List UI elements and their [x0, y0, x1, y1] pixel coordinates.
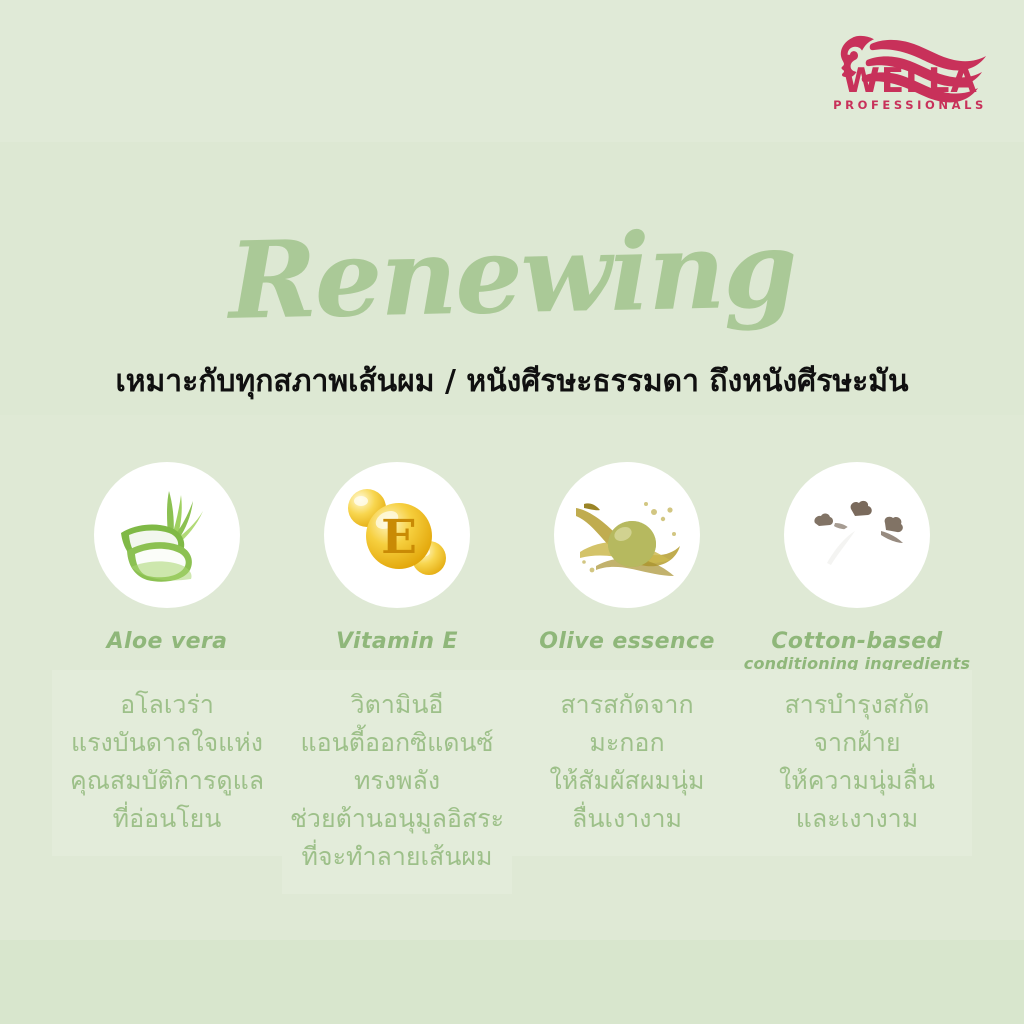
aloe-vera-icon: [107, 475, 227, 595]
svg-text:E: E: [381, 510, 417, 565]
wella-logo: WELLA PROFESSIONALS: [822, 16, 998, 116]
description-line: ให้ความนุ่มลื่น: [746, 762, 968, 800]
description-line: ทรงพลัง: [286, 762, 508, 800]
ingredient-name-line1: Vitamin E: [336, 629, 458, 654]
vitamin-e-capsule-icon: E: [337, 475, 457, 595]
ingredient-icon-circle: E: [324, 462, 470, 608]
description-line: ที่อ่อนโยน: [56, 800, 278, 838]
ingredient-name-line1: Cotton-based: [771, 629, 942, 654]
ingredient-description: สารสกัดจาก มะกอก ให้สัมผัสผมนุ่ม ลื่นเงา…: [512, 670, 742, 856]
ingredient-card-olive-essence: Olive essence สารสกัดจาก มะกอก ให้สัมผัส…: [512, 462, 742, 894]
description-line: แอนตี้ออกซิแดนซ์: [286, 724, 508, 762]
wella-wordmark: WELLA: [822, 64, 998, 98]
promo-poster: WELLA PROFESSIONALS Renewing เหมาะกับทุก…: [0, 0, 1024, 1024]
wella-tagline: PROFESSIONALS: [822, 100, 998, 112]
ingredient-list: Aloe vera อโลเวร่า แรงบันดาลใจแห่ง คุณสม…: [52, 462, 972, 894]
ingredient-card-vitamin-e: E Vitamin E วิตามินอี แอนตี้ออกซิแดนซ์ ท…: [282, 462, 512, 894]
description-line: ช่วยต้านอนุมูลอิสระ: [286, 800, 508, 838]
page-subtitle: เหมาะกับทุกสภาพเส้นผม / หนังศีรษะธรรมดา …: [0, 364, 1024, 400]
description-line: และเงางาม: [746, 800, 968, 838]
description-line: ที่จะทำลายเส้นผม: [286, 838, 508, 876]
ingredient-description: อโลเวร่า แรงบันดาลใจแห่ง คุณสมบัติการดูแ…: [52, 670, 282, 856]
description-line: คุณสมบัติการดูแล: [56, 762, 278, 800]
description-line: สารสกัดจาก: [516, 686, 738, 724]
ingredient-name-line1: Aloe vera: [107, 629, 228, 654]
ingredient-icon-circle: [784, 462, 930, 608]
ingredient-name: Cotton-based conditioning ingredients: [744, 630, 970, 672]
ingredient-name: Aloe vera: [107, 630, 228, 654]
olive-oil-splash-icon: [566, 474, 688, 596]
ingredient-icon-circle: [554, 462, 700, 608]
ingredient-card-aloe-vera: Aloe vera อโลเวร่า แรงบันดาลใจแห่ง คุณสม…: [52, 462, 282, 894]
description-line: วิตามินอี: [286, 686, 508, 724]
ingredient-description: วิตามินอี แอนตี้ออกซิแดนซ์ ทรงพลัง ช่วยต…: [282, 670, 512, 894]
ingredient-name-line1: Olive essence: [539, 629, 715, 654]
cotton-powder-icon: [797, 475, 917, 595]
description-line: ให้สัมผัสผมนุ่ม: [516, 762, 738, 800]
description-line: จากฝ้าย: [746, 724, 968, 762]
ingredient-card-cotton-based: Cotton-based conditioning ingredients สา…: [742, 462, 972, 894]
ingredient-description: สารบำรุงสกัด จากฝ้าย ให้ความนุ่มลื่น และ…: [742, 670, 972, 856]
description-line: ลื่นเงางาม: [516, 800, 738, 838]
ingredient-name: Olive essence: [539, 630, 715, 654]
page-title: Renewing: [0, 211, 1024, 338]
description-line: แรงบันดาลใจแห่ง: [56, 724, 278, 762]
ingredient-name: Vitamin E: [336, 630, 458, 654]
description-line: สารบำรุงสกัด: [746, 686, 968, 724]
description-line: มะกอก: [516, 724, 738, 762]
description-line: อโลเวร่า: [56, 686, 278, 724]
background-band-bottom: [0, 940, 1024, 1024]
ingredient-icon-circle: [94, 462, 240, 608]
